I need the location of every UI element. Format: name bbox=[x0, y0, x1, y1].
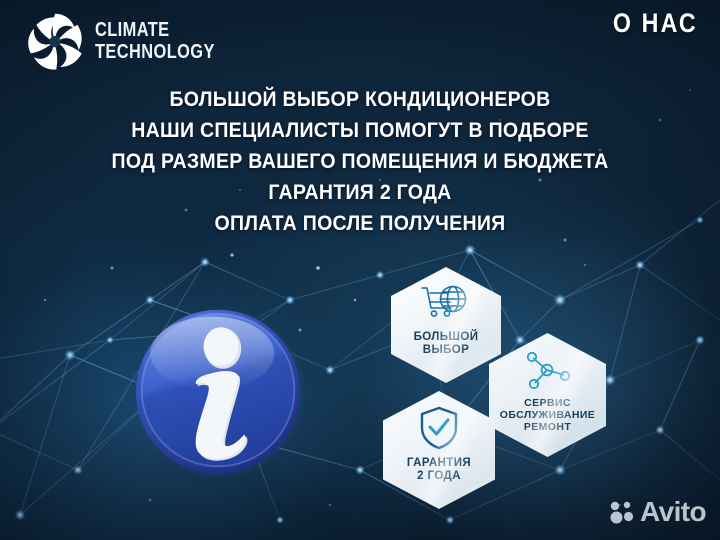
feature-label-warranty-line1: ГАРАНТИЯ bbox=[407, 457, 471, 470]
promo-banner: CLIMATE TECHNOLOGY О НАС БОЛЬШОЙ ВЫБОР К… bbox=[0, 0, 720, 540]
headline-line-5: ОПЛАТА ПОСЛЕ ПОЛУЧЕНИЯ bbox=[25, 208, 695, 239]
brand-name-line1: CLIMATE bbox=[95, 20, 215, 40]
info-circle-icon bbox=[133, 303, 307, 479]
feature-label-service: СЕРВИС ОБСЛУЖИВАНИЕ РЕМОНТ bbox=[500, 398, 595, 433]
avito-wordmark: Avito bbox=[640, 496, 706, 528]
brand-name: CLIMATE TECHNOLOGY bbox=[95, 20, 215, 62]
background-vignette bbox=[0, 0, 720, 540]
network-nodes-icon bbox=[524, 350, 572, 390]
feature-label-service-line2: ОБСЛУЖИВАНИЕ bbox=[500, 410, 595, 422]
avito-watermark: Avito bbox=[609, 496, 706, 528]
feature-label-warranty: ГАРАНТИЯ 2 ГОДА bbox=[407, 457, 471, 483]
cart-globe-icon bbox=[420, 285, 472, 323]
feature-label-service-line1: СЕРВИС bbox=[500, 398, 595, 410]
headline-block: БОЛЬШОЙ ВЫБОР КОНДИЦИОНЕРОВ НАШИ СПЕЦИАЛ… bbox=[0, 84, 720, 239]
headline-line-1: БОЛЬШОЙ ВЫБОР КОНДИЦИОНЕРОВ bbox=[25, 84, 695, 115]
page-title: О НАС bbox=[613, 8, 698, 39]
shield-check-icon bbox=[419, 406, 459, 450]
feature-label-choice: БОЛЬШОЙ ВЫБОР bbox=[414, 331, 479, 357]
feature-label-service-line3: РЕМОНТ bbox=[500, 422, 595, 434]
brand-logo: CLIMATE TECHNOLOGY bbox=[24, 10, 241, 72]
brand-name-line2: TECHNOLOGY bbox=[95, 42, 215, 62]
headline-line-3: ПОД РАЗМЕР ВАШЕГО ПОМЕЩЕНИЯ И БЮДЖЕТА bbox=[25, 146, 695, 177]
headline-line-2: НАШИ СПЕЦИАЛИСТЫ ПОМОГУТ В ПОДБОРЕ bbox=[25, 115, 695, 146]
feature-label-choice-line2: ВЫБОР bbox=[414, 344, 479, 357]
headline-line-4: ГАРАНТИЯ 2 ГОДА bbox=[25, 177, 695, 208]
avito-dots-icon bbox=[609, 500, 635, 524]
fan-spiral-icon bbox=[24, 10, 86, 72]
feature-label-warranty-line2: 2 ГОДА bbox=[407, 470, 471, 483]
feature-label-choice-line1: БОЛЬШОЙ bbox=[414, 331, 479, 344]
